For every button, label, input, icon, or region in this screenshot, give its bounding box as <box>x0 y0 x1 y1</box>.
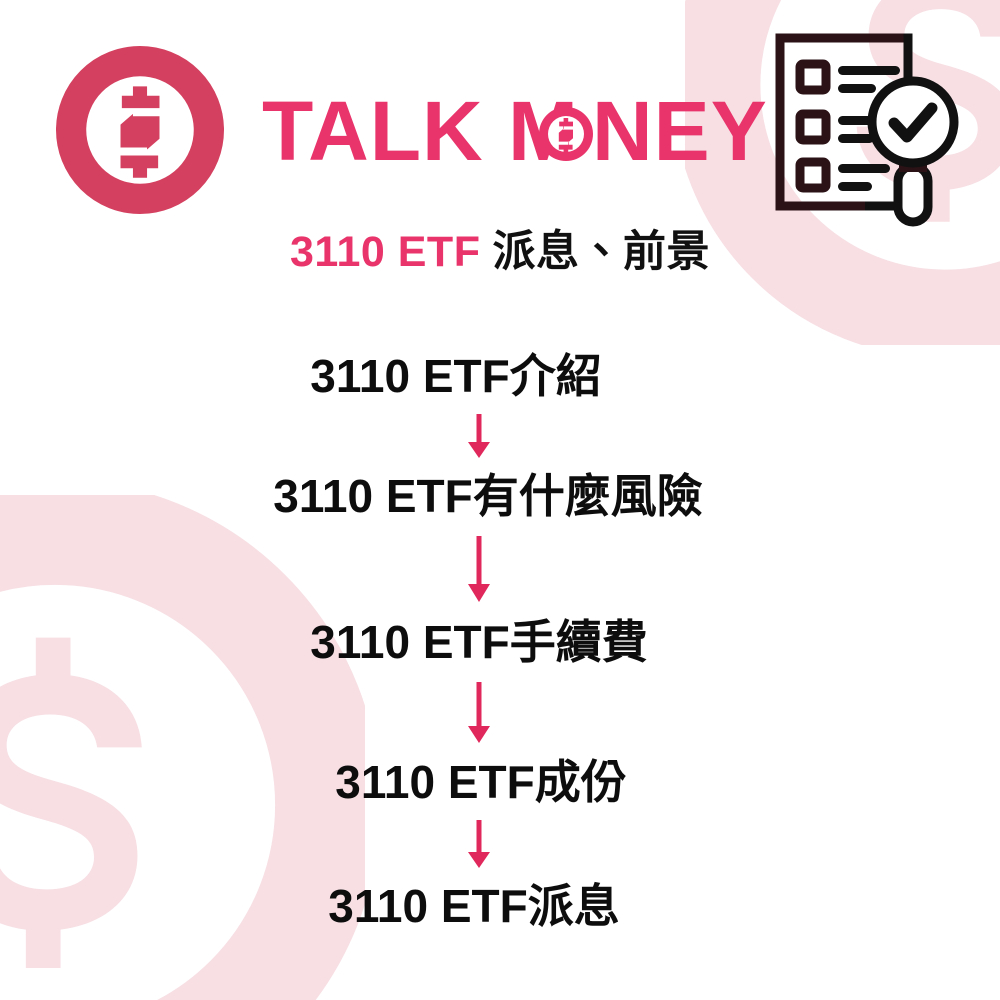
arrow-down-icon <box>462 818 496 870</box>
flow-step-3: 3110 ETF手續費 <box>0 606 1000 678</box>
arrow-down-icon <box>462 532 496 606</box>
dollar-coin-letter-o <box>539 107 593 161</box>
flow-step-label: 3110 ETF手續費 <box>0 619 1000 665</box>
flow-step-label: 3110 ETF成份 <box>0 759 1000 805</box>
flow-connector-2 <box>0 532 1000 606</box>
svg-text:NEY: NEY <box>592 88 768 178</box>
flow-step-5: 3110 ETF派息 <box>0 870 1000 942</box>
infographic-canvas: TALK M NEY <box>0 0 1000 1000</box>
brand-header: TALK M NEY <box>0 0 1000 230</box>
flow-connector-3 <box>0 678 1000 746</box>
subtitle-topic: 派息、前景 <box>492 228 710 276</box>
subtitle-code: 3110 ETF <box>290 228 480 276</box>
arrow-down-icon <box>462 678 496 746</box>
flow-step-4: 3110 ETF成份 <box>0 746 1000 818</box>
arrow-down-icon <box>462 412 496 460</box>
flow-step-label: 3110 ETF有什麼風險 <box>0 473 1000 519</box>
page-subtitle: 3110 ETF派息、前景 <box>0 228 1000 277</box>
talk-money-wordmark: TALK M NEY <box>262 88 772 180</box>
dollar-coin-icon <box>56 46 224 214</box>
flow-step-1: 3110 ETF介紹 <box>0 340 1000 412</box>
flow-connector-4 <box>0 818 1000 870</box>
flow-step-label: 3110 ETF派息 <box>0 883 1000 929</box>
clipboard-checklist-magnifier-icon <box>770 28 975 228</box>
flow-step-2: 3110 ETF有什麼風險 <box>0 460 1000 532</box>
flow-connector-1 <box>0 412 1000 460</box>
topic-flow-list: 3110 ETF介紹 3110 ETF有什麼風險 3110 ETF手續費 <box>0 340 1000 942</box>
svg-text:TALK M: TALK M <box>262 88 579 178</box>
flow-step-label: 3110 ETF介紹 <box>0 353 1000 399</box>
